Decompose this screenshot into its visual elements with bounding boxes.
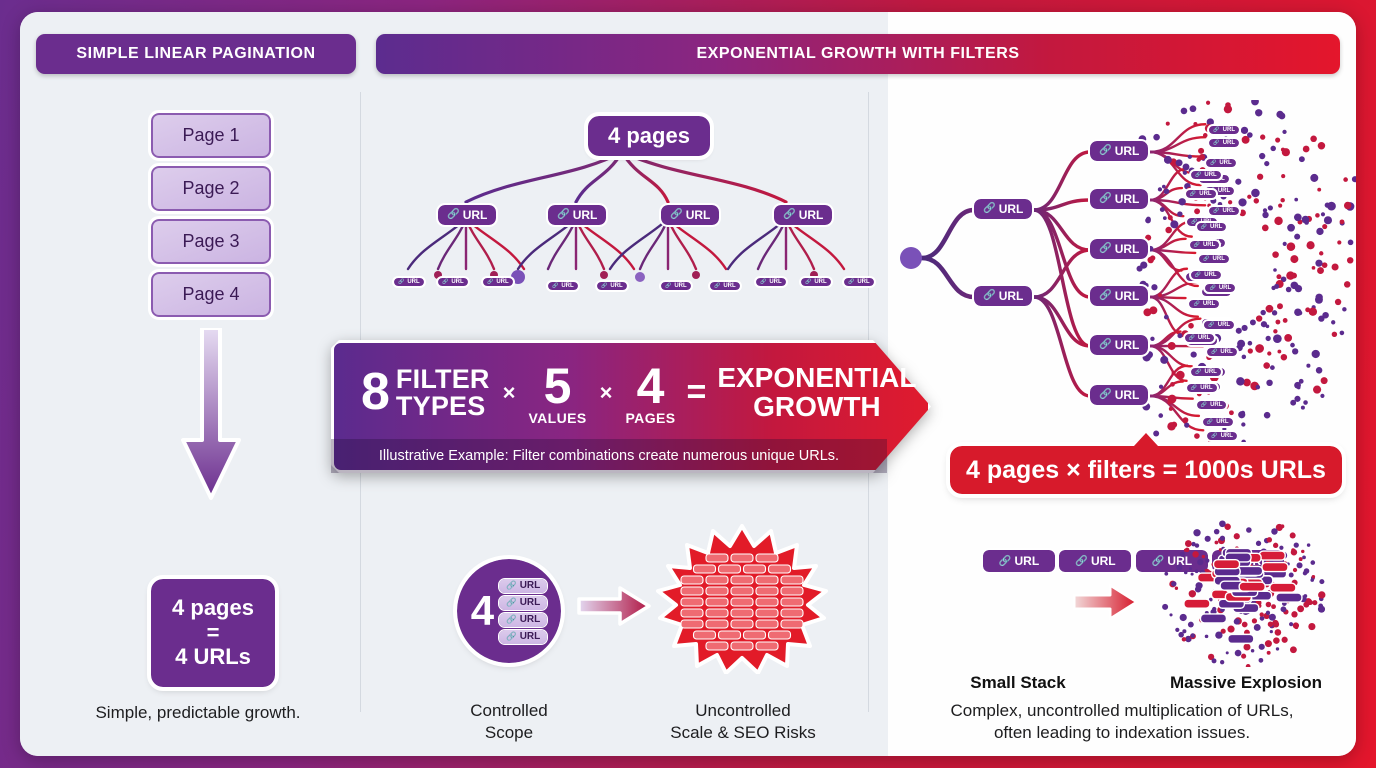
tree-leaf-label: URL bbox=[407, 279, 419, 285]
link-icon: 🔗 bbox=[670, 209, 683, 220]
link-icon: 🔗 bbox=[506, 580, 517, 591]
link-icon: 🔗 bbox=[1209, 285, 1215, 291]
tree-leaf-label: URL bbox=[723, 283, 735, 289]
header-exponential-growth-with-filters: EXPONENTIAL GROWTH WITH FILTERS bbox=[376, 34, 1340, 74]
tree-leaf-node: 🔗URL bbox=[483, 270, 513, 288]
tree-url-leaf: 🔗URL bbox=[1186, 182, 1216, 200]
left-result-box: 4 pages = 4 URLs bbox=[151, 579, 275, 687]
controlled-scope-circle: 4 🔗URL 🔗URL 🔗URL 🔗URL bbox=[457, 559, 561, 663]
massive-explosion-cluster bbox=[1145, 517, 1345, 667]
tree-url-leaf: 🔗URL bbox=[1197, 215, 1227, 233]
tree-url-leaf: 🔗URL bbox=[1189, 292, 1219, 310]
tree-branch-label: URL bbox=[686, 208, 711, 222]
tree-url-label: URL bbox=[999, 202, 1024, 216]
tree-url-leaf: 🔗URL bbox=[1205, 276, 1235, 294]
tree-url-leaf: 🔗URL bbox=[1207, 340, 1237, 358]
massive-explosion-label: Massive Explosion bbox=[1140, 673, 1352, 693]
page-card: Page 3 bbox=[151, 219, 271, 264]
link-icon: 🔗 bbox=[1190, 191, 1196, 197]
stack-pill-label: URL bbox=[1015, 554, 1040, 568]
tree-branch-label: URL bbox=[463, 208, 488, 222]
link-icon: 🔗 bbox=[983, 203, 996, 214]
circle-number: 4 bbox=[471, 587, 494, 635]
link-icon: 🔗 bbox=[1211, 349, 1217, 355]
link-icon: 🔗 bbox=[557, 209, 570, 220]
link-icon: 🔗 bbox=[506, 614, 517, 625]
tree-leaf-label: URL bbox=[451, 279, 463, 285]
formula-label-1a: FILTER bbox=[396, 366, 490, 393]
tree-url-node: 🔗URL bbox=[1090, 285, 1148, 306]
formula-banner: 8 FILTER TYPES × 5 VALUES × 4 PAGES = EX… bbox=[331, 340, 931, 473]
tree-url-node: 🔗URL bbox=[1090, 384, 1148, 405]
result-line-1: 4 pages bbox=[172, 596, 254, 621]
link-icon: 🔗 bbox=[714, 283, 720, 289]
formula-unit-2: VALUES bbox=[528, 411, 586, 425]
tree-url-leaf: 🔗URL bbox=[1191, 163, 1221, 181]
tree-url-label: URL bbox=[1115, 388, 1140, 402]
tree-leaf-label: URL bbox=[496, 279, 508, 285]
callout-badge: 4 pages × filters = 1000s URLs bbox=[950, 446, 1342, 494]
result-line-3: 4 URLs bbox=[175, 645, 251, 670]
link-icon: 🔗 bbox=[1213, 140, 1219, 146]
formula-operator-2: × bbox=[600, 380, 613, 406]
tree-leaf-label: URL bbox=[857, 279, 869, 285]
link-icon: 🔗 bbox=[1203, 256, 1209, 262]
formula-row: 8 FILTER TYPES × 5 VALUES × 4 PAGES = EX… bbox=[361, 350, 861, 435]
tree-leaf-node: 🔗URL bbox=[597, 274, 627, 292]
left-caption: Simple, predictable growth. bbox=[36, 702, 360, 724]
tree-url-leaf: 🔗URL bbox=[1209, 131, 1239, 149]
tree-leaf-node: 🔗URL bbox=[548, 274, 578, 292]
link-icon: 🔗 bbox=[487, 279, 493, 285]
circle-pill-label: URL bbox=[520, 631, 541, 642]
result-line-2: = bbox=[207, 621, 220, 646]
tree-root-node: 4 pages bbox=[588, 116, 710, 156]
tree-url-node: 🔗URL bbox=[974, 198, 1032, 219]
link-icon: 🔗 bbox=[447, 209, 460, 220]
tree-leaf-node: 🔗URL bbox=[394, 270, 424, 288]
formula-result-2: GROWTH bbox=[717, 393, 916, 422]
tree-leaf-node: 🔗URL bbox=[710, 274, 740, 292]
tree-leaf-label: URL bbox=[561, 283, 573, 289]
controlled-scope-caption: Controlled Scope bbox=[420, 700, 598, 744]
formula-number-1: 8 bbox=[361, 368, 390, 417]
link-icon: 🔗 bbox=[1189, 335, 1195, 341]
right-arrow-icon bbox=[1072, 582, 1140, 622]
formula-number-2: 5 bbox=[544, 361, 572, 411]
tree-leaf-node: 🔗URL bbox=[844, 270, 874, 288]
uncontrolled-scale-caption: Uncontrolled Scale & SEO Risks bbox=[632, 700, 854, 744]
small-stack-label: Small Stack bbox=[920, 673, 1116, 693]
tree-leaf-node: 🔗URL bbox=[438, 270, 468, 288]
tree-url-label: URL bbox=[999, 289, 1024, 303]
link-icon: 🔗 bbox=[999, 556, 1012, 567]
tree-url-leaf: 🔗URL bbox=[1187, 376, 1217, 394]
tree-url-label: URL bbox=[1115, 338, 1140, 352]
tree-url-node: 🔗URL bbox=[1090, 238, 1148, 259]
circle-pill-label: URL bbox=[520, 597, 541, 608]
formula-number-3: 4 bbox=[637, 361, 665, 411]
tree-branch-label: URL bbox=[799, 208, 824, 222]
link-icon: 🔗 bbox=[1195, 172, 1201, 178]
link-icon: 🔗 bbox=[1193, 301, 1199, 307]
starburst-icon bbox=[651, 524, 833, 674]
tree-url-node: 🔗URL bbox=[974, 285, 1032, 306]
link-icon: 🔗 bbox=[665, 283, 671, 289]
link-icon: 🔗 bbox=[1099, 193, 1112, 204]
tree-url-label: URL bbox=[1115, 192, 1140, 206]
right-caption: Complex, uncontrolled multiplication of … bbox=[896, 700, 1348, 744]
link-icon: 🔗 bbox=[1211, 433, 1217, 439]
tree-url-node: 🔗URL bbox=[1090, 334, 1148, 355]
tree-url-label: URL bbox=[1115, 289, 1140, 303]
tree-leaf-label: URL bbox=[769, 279, 781, 285]
formula-label-1b: TYPES bbox=[396, 393, 490, 420]
link-icon: 🔗 bbox=[506, 597, 517, 608]
link-icon: 🔗 bbox=[1075, 556, 1088, 567]
tree-leaf-label: URL bbox=[814, 279, 826, 285]
tree-branch-node: 🔗URL bbox=[438, 204, 496, 225]
page-card: Page 2 bbox=[151, 166, 271, 211]
formula-note: Illustrative Example: Filter combination… bbox=[331, 439, 887, 473]
link-icon: 🔗 bbox=[1099, 145, 1112, 156]
formula-result-1: EXPONENTIAL bbox=[717, 364, 916, 393]
tree-url-label: URL bbox=[1115, 242, 1140, 256]
link-icon: 🔗 bbox=[506, 631, 517, 642]
tree-url-leaf: 🔗URL bbox=[1197, 393, 1227, 411]
tree-leaf-node: 🔗URL bbox=[756, 270, 786, 288]
infographic-card: SIMPLE LINEAR PAGINATION EXPONENTIAL GRO… bbox=[20, 12, 1356, 756]
tree-root-label: 4 pages bbox=[588, 116, 710, 156]
root-node-dot bbox=[900, 247, 922, 269]
link-icon: 🔗 bbox=[805, 279, 811, 285]
tree-leaf-node: 🔗URL bbox=[661, 274, 691, 292]
tree-branch-label: URL bbox=[573, 208, 598, 222]
link-icon: 🔗 bbox=[1201, 224, 1207, 230]
tree-branch-node: 🔗URL bbox=[774, 204, 832, 225]
header-simple-linear-pagination: SIMPLE LINEAR PAGINATION bbox=[36, 34, 356, 74]
stack-pill-label: URL bbox=[1091, 554, 1116, 568]
tree-branch-node: 🔗URL bbox=[661, 204, 719, 225]
formula-equals: = bbox=[686, 373, 706, 412]
link-icon: 🔗 bbox=[398, 279, 404, 285]
tree-branch-node: 🔗URL bbox=[548, 204, 606, 225]
page-card: Page 4 bbox=[151, 272, 271, 317]
tree-url-leaf: 🔗URL bbox=[1207, 424, 1237, 442]
circle-pill-label: URL bbox=[520, 614, 541, 625]
link-icon: 🔗 bbox=[848, 279, 854, 285]
link-icon: 🔗 bbox=[1195, 369, 1201, 375]
link-icon: 🔗 bbox=[1099, 290, 1112, 301]
link-icon: 🔗 bbox=[552, 283, 558, 289]
page-card: Page 1 bbox=[151, 113, 271, 158]
tree-leaf-label: URL bbox=[610, 283, 622, 289]
circle-pill-label: URL bbox=[520, 580, 541, 591]
tree-leaf-node: 🔗URL bbox=[801, 270, 831, 288]
link-icon: 🔗 bbox=[1099, 339, 1112, 350]
tree-url-node: 🔗URL bbox=[1090, 140, 1148, 161]
link-icon: 🔗 bbox=[442, 279, 448, 285]
right-arrow-icon bbox=[576, 584, 652, 628]
link-icon: 🔗 bbox=[1201, 402, 1207, 408]
link-icon: 🔗 bbox=[1195, 272, 1201, 278]
tree-url-label: URL bbox=[1115, 144, 1140, 158]
link-icon: 🔗 bbox=[760, 279, 766, 285]
link-icon: 🔗 bbox=[783, 209, 796, 220]
tree-leaf-label: URL bbox=[674, 283, 686, 289]
formula-operator-1: × bbox=[503, 380, 516, 406]
down-arrow-icon bbox=[180, 328, 242, 503]
link-icon: 🔗 bbox=[1191, 385, 1197, 391]
link-icon: 🔗 bbox=[983, 290, 996, 301]
link-icon: 🔗 bbox=[1099, 243, 1112, 254]
tree-url-node: 🔗URL bbox=[1090, 188, 1148, 209]
formula-unit-3: PAGES bbox=[625, 411, 675, 425]
page-stack: Page 1 Page 2 Page 3 Page 4 bbox=[151, 113, 271, 325]
link-icon: 🔗 bbox=[601, 283, 607, 289]
link-icon: 🔗 bbox=[1099, 389, 1112, 400]
